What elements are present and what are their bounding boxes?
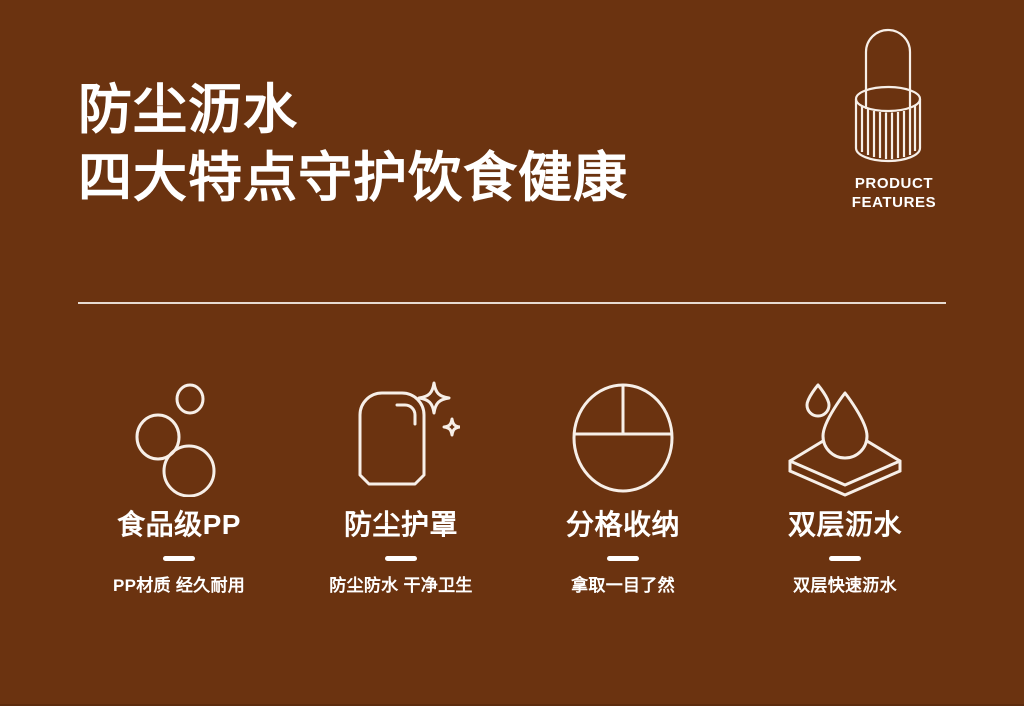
water-drop-layers-icon (734, 375, 956, 500)
feature-title: 分格收纳 (512, 508, 734, 542)
feature-divider-dash (385, 556, 417, 561)
feature-item: 食品级PP PP材质 经久耐用 (68, 375, 290, 597)
feature-title: 防尘护罩 (290, 508, 512, 542)
page-title: 防尘沥水 四大特点守护饮食健康 (78, 78, 628, 210)
dust-cover-sparkle-icon (290, 375, 512, 500)
chopstick-holder-icon (834, 26, 954, 174)
product-features-badge: PRODUCT FEATURES (834, 26, 954, 212)
bubbles-icon (68, 375, 290, 500)
feature-title: 双层沥水 (734, 508, 956, 542)
feature-divider-dash (607, 556, 639, 561)
feature-divider-dash (163, 556, 195, 561)
headline-line-1: 防尘沥水 (78, 78, 628, 142)
feature-item: 防尘护罩 防尘防水 干净卫生 (290, 375, 512, 597)
feature-divider-dash (829, 556, 861, 561)
headline-line-2: 四大特点守护饮食健康 (78, 146, 628, 210)
horizontal-divider (78, 302, 946, 304)
feature-title: 食品级PP (68, 508, 290, 542)
features-row: 食品级PP PP材质 经久耐用 防尘护罩 防尘防水 干净卫生 (68, 375, 956, 597)
divided-compartments-icon (512, 375, 734, 500)
poster-canvas: 防尘沥水 四大特点守护饮食健康 (0, 0, 1024, 706)
feature-item: 分格收纳 拿取一目了然 (512, 375, 734, 597)
feature-subtitle: 防尘防水 干净卫生 (290, 575, 512, 597)
header-section: 防尘沥水 四大特点守护饮食健康 (0, 0, 1024, 300)
feature-subtitle: 双层快速沥水 (734, 575, 956, 597)
feature-subtitle: 拿取一目了然 (512, 575, 734, 597)
feature-subtitle: PP材质 经久耐用 (68, 575, 290, 597)
feature-item: 双层沥水 双层快速沥水 (734, 375, 956, 597)
badge-label-line-2: FEATURES (834, 193, 954, 212)
badge-label-line-1: PRODUCT (834, 174, 954, 193)
